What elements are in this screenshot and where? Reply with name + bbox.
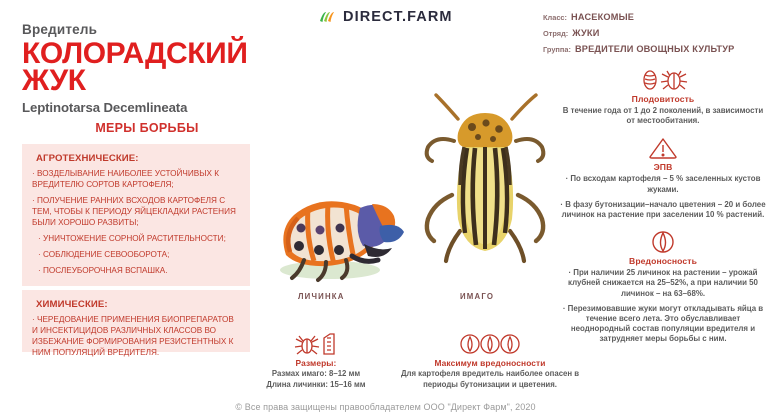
agrotechnical-item: · ПОСЛЕУБОРОЧНАЯ ВСПАШКА. xyxy=(32,265,240,276)
classification-row-order: Отряд: ЖУКИ xyxy=(543,27,769,41)
epv-title: ЭПВ xyxy=(555,162,771,172)
right-info-column: Плодовитость В течение года от 1 до 2 по… xyxy=(555,66,771,353)
chemical-measures-panel: ХИМИЧЕСКИЕ: · ЧЕРЕДОВАНИЕ ПРИМЕНЕНИЯ БИО… xyxy=(22,290,250,352)
larva-caption: ЛИЧИНКА xyxy=(298,292,345,301)
fertility-text: В течение года от 1 до 2 поколений, в за… xyxy=(555,106,771,126)
max-harmfulness-line2: периоды бутонизации и цветения. xyxy=(390,380,590,390)
copyright-footer: © Все права защищены правообладателем ОО… xyxy=(0,402,771,412)
sizes-title: Размеры: xyxy=(246,358,386,368)
measures-subtitle: МЕРЫ БОРЬБЫ xyxy=(22,121,272,135)
page-title-line2: ЖУК xyxy=(22,67,272,94)
max-harmfulness-title: Максимум вредоносности xyxy=(390,358,590,368)
agrotechnical-item: · ПОЛУЧЕНИЕ РАННИХ ВСХОДОВ КАРТОФЕЛЯ С Т… xyxy=(32,195,240,228)
harmfulness-text-2: · Перезимовавшие жуки могут откладывать … xyxy=(555,304,771,345)
sizes-line-imago: Размах имаго: 8–12 мм xyxy=(246,369,386,379)
epv-text-1: · По всходам картофеля – 5 % заселенных … xyxy=(555,174,771,194)
agrotechnical-item: · ВОЗДЕЛЫВАНИЕ НАИБОЛЕЕ УСТОЙЧИВЫХ К ВРЕ… xyxy=(32,168,240,190)
colorado-beetle-adult-illustration xyxy=(420,85,550,290)
epv-block: ЭПВ · По всходам картофеля – 5 % заселен… xyxy=(555,134,771,220)
group-label: Группа: xyxy=(543,44,571,57)
colorado-beetle-larva-illustration xyxy=(268,160,408,295)
epv-text-2: · В фазу бутонизации–начало цветения – 2… xyxy=(555,200,771,220)
latin-name: Leptinotarsa Decemlineata xyxy=(22,100,272,115)
agrotechnical-item: · СОБЛЮДЕНИЕ СЕВООБОРОТА; xyxy=(32,249,240,260)
imago-caption: ИМАГО xyxy=(460,292,494,301)
sizes-block: Размеры: Размах имаго: 8–12 мм Длина лич… xyxy=(246,330,386,390)
logo-text: DIRECT.FARM xyxy=(343,9,453,25)
beetle-ruler-icon xyxy=(246,330,386,356)
max-harmfulness-line1: Для картофеля вредитель наиболее опасен … xyxy=(390,369,590,379)
agrotechnical-item: · УНИЧТОЖЕНИЕ СОРНОЙ РАСТИТЕЛЬНОСТИ; xyxy=(32,233,240,244)
agrotechnical-measures-panel: АГРОТЕХНИЧЕСКИЕ: · ВОЗДЕЛЫВАНИЕ НАИБОЛЕЕ… xyxy=(22,144,250,286)
brand-logo: DIRECT.FARM xyxy=(319,9,453,25)
fertility-block: Плодовитость В течение года от 1 до 2 по… xyxy=(555,66,771,126)
order-value: ЖУКИ xyxy=(572,27,599,40)
chemical-item: · ЧЕРЕДОВАНИЕ ПРИМЕНЕНИЯ БИОПРЕПАРАТОВ И… xyxy=(32,314,240,358)
chemical-heading: ХИМИЧЕСКИЕ: xyxy=(32,299,240,310)
harmfulness-text-1: · При наличии 25 личинок на растении – у… xyxy=(555,268,771,299)
harmfulness-block: Вредоносность · При наличии 25 личинок н… xyxy=(555,228,771,344)
page-title: КОЛОРАДСКИЙ ЖУК xyxy=(22,40,272,94)
harmfulness-title: Вредоносность xyxy=(555,256,771,266)
order-label: Отряд: xyxy=(543,28,568,41)
classification-row-class: Класс: НАСЕКОМЫЕ xyxy=(543,11,769,25)
warning-triangle-icon xyxy=(555,134,771,161)
direct-farm-waves-icon xyxy=(319,10,336,24)
group-value: ВРЕДИТЕЛИ ОВОЩНЫХ КУЛЬТУР xyxy=(575,43,735,56)
agrotechnical-heading: АГРОТЕХНИЧЕСКИЕ: xyxy=(32,153,240,164)
leaf-circle-icon xyxy=(555,228,771,255)
infographic-root: DIRECT.FARM Класс: НАСЕКОМЫЕ Отряд: ЖУКИ… xyxy=(0,0,771,419)
sizes-line-larva: Длина личинки: 15–16 мм xyxy=(246,380,386,390)
page-title-line1: КОЛОРАДСКИЙ xyxy=(22,40,272,67)
egg-and-beetle-icon xyxy=(555,66,771,93)
class-value: НАСЕКОМЫЕ xyxy=(571,11,634,24)
pretitle: Вредитель xyxy=(22,22,272,37)
page-title-block: Вредитель КОЛОРАДСКИЙ ЖУК Leptinotarsa D… xyxy=(22,22,272,135)
classification-list: Класс: НАСЕКОМЫЕ Отряд: ЖУКИ Группа: ВРЕ… xyxy=(543,11,769,59)
class-label: Класс: xyxy=(543,12,567,25)
fertility-title: Плодовитость xyxy=(555,94,771,104)
classification-row-group: Группа: ВРЕДИТЕЛИ ОВОЩНЫХ КУЛЬТУР xyxy=(543,43,769,57)
